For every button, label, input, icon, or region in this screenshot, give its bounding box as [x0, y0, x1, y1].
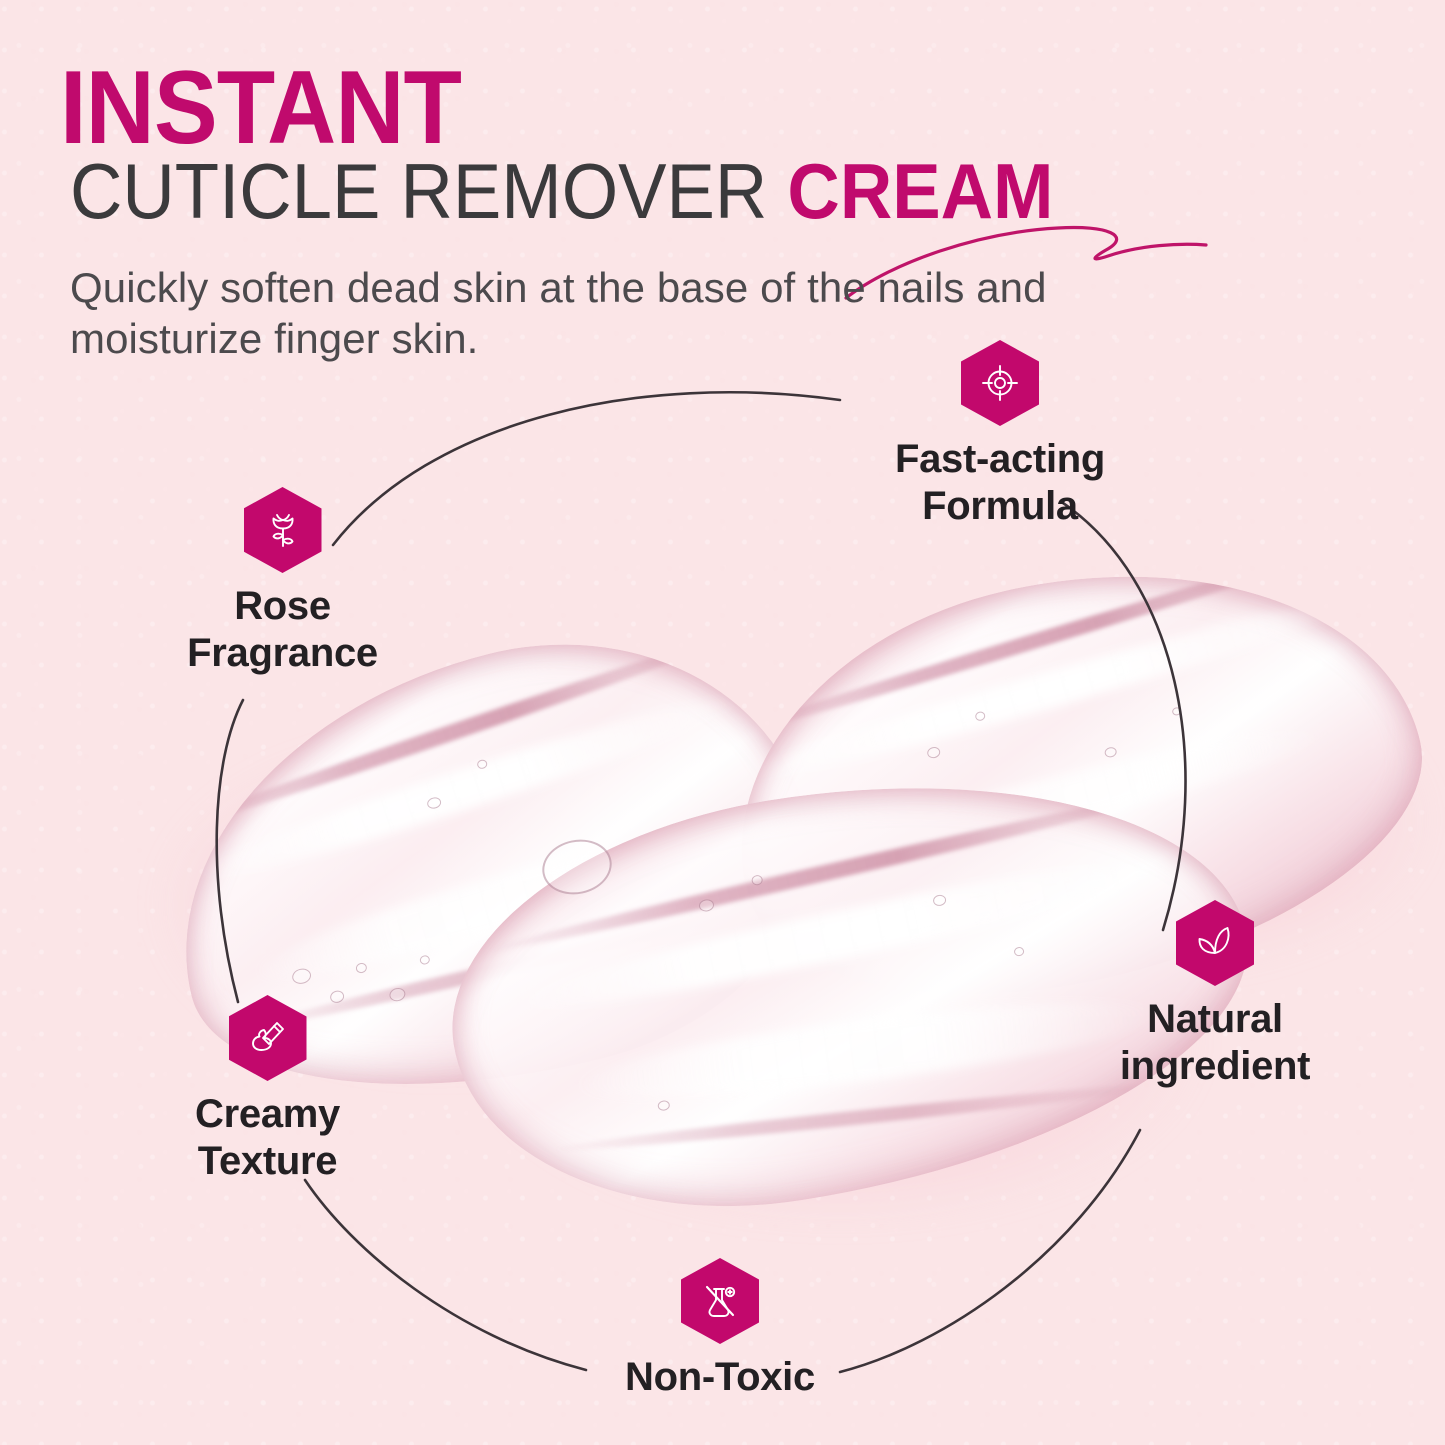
flower-icon: [264, 509, 302, 551]
infographic-canvas: Fast-acting Formula Rose Fragrance: [0, 0, 1445, 1445]
feature-label: Non-Toxic: [525, 1354, 915, 1401]
no-toxic-flask-icon: [700, 1281, 740, 1321]
feature-label: Rose Fragrance: [110, 583, 455, 677]
hex-badge: [244, 487, 322, 573]
headline-cuticle-remover-cream: CUTICLE REMOVER CREAM: [70, 152, 1053, 230]
subtitle-text: Quickly soften dead skin at the base of …: [70, 262, 1140, 364]
headline-instant: INSTANT: [60, 56, 461, 160]
feature-label: Creamy Texture: [95, 1091, 440, 1185]
headline-accent-part: CREAM: [787, 147, 1053, 235]
hex-badge: [1176, 900, 1254, 986]
feature-non-toxic[interactable]: Non-Toxic: [525, 1258, 915, 1401]
feature-label: Natural ingredient: [1040, 996, 1390, 1090]
hex-badge: [229, 995, 307, 1081]
feature-fast-acting[interactable]: Fast-acting Formula: [820, 340, 1180, 530]
cream-swirl-icon: [247, 1017, 289, 1059]
headline-plain-part: CUTICLE REMOVER: [70, 147, 787, 235]
feature-rose-fragrance[interactable]: Rose Fragrance: [110, 487, 455, 677]
feature-label: Fast-acting Formula: [820, 436, 1180, 530]
feature-creamy-texture[interactable]: Creamy Texture: [95, 995, 440, 1185]
target-icon: [980, 363, 1020, 403]
leaves-icon: [1194, 923, 1236, 963]
hex-badge: [681, 1258, 759, 1344]
feature-natural-ingredient[interactable]: Natural ingredient: [1040, 900, 1390, 1090]
